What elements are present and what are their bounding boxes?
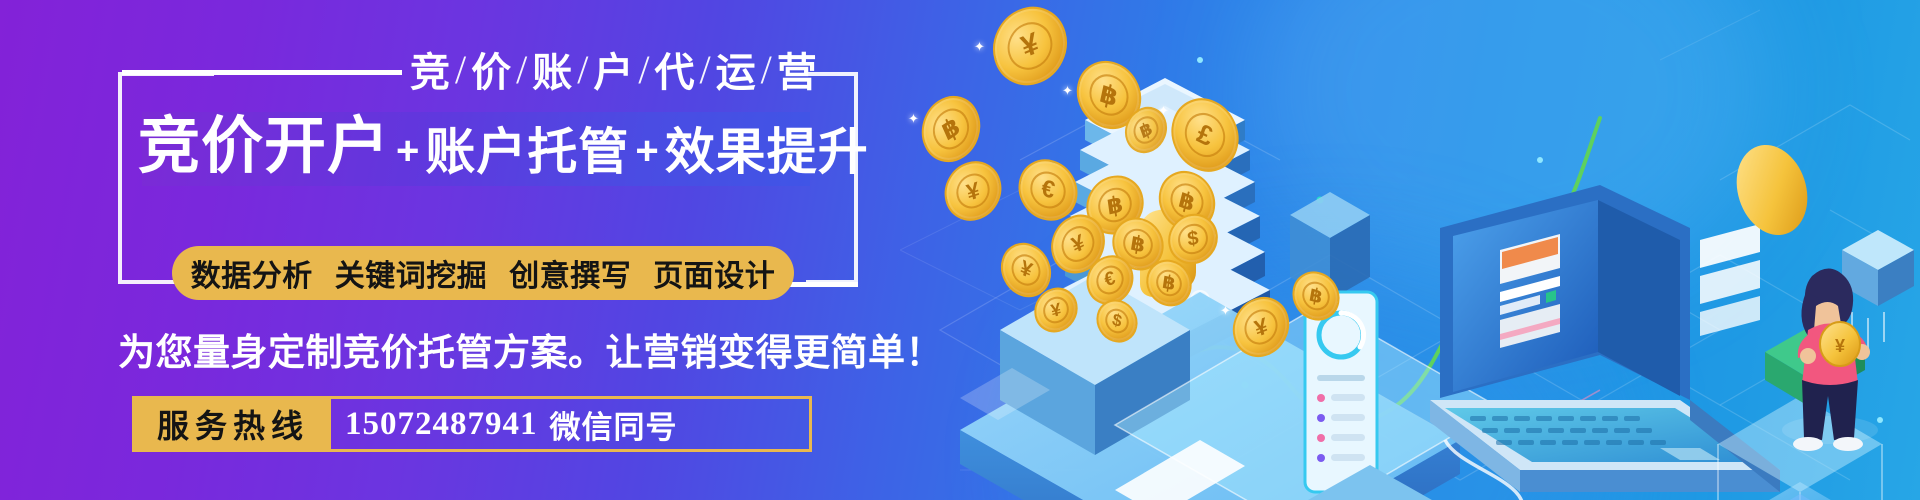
- gold-coin-large: [1725, 136, 1818, 245]
- tagline-word-5: 运: [716, 40, 757, 98]
- headline-plus-1: +: [396, 131, 419, 171]
- tagline-separator: /: [516, 46, 528, 93]
- headline: 竞价开户 + 账户托管 + 效果提升: [138, 104, 868, 190]
- headline-plus-2: +: [635, 131, 658, 171]
- svg-text:¥: ¥: [1835, 336, 1845, 356]
- service-item-0: 数据分析: [191, 251, 313, 295]
- hotline-bar: 服务热线 15072487941 微信同号: [132, 396, 812, 452]
- tagline: 竞 / 价 / 账 / 户 / 代 / 运 / 营: [410, 40, 880, 98]
- sparkle-icon: ✦: [908, 112, 919, 125]
- headline-part-3: 效果提升: [665, 127, 869, 177]
- hotline-label: 服务热线: [135, 399, 331, 449]
- tagline-separator: /: [700, 46, 712, 93]
- sparkle-icon: ✦: [974, 40, 985, 53]
- headline-part-1: 竞价开户: [138, 116, 390, 178]
- promo-banner: 竞 / 价 / 账 / 户 / 代 / 运 / 营 竞价开户 + 账户托管 + …: [0, 0, 1920, 500]
- sparkle-icon: ✦: [1220, 304, 1231, 317]
- service-item-2: 创意撰写: [509, 251, 631, 295]
- tagline-separator: /: [761, 46, 773, 93]
- tagline-separator: /: [638, 46, 650, 93]
- tagline-word-2: 账: [532, 40, 573, 98]
- hotline-number[interactable]: 15072487941: [345, 406, 538, 443]
- hotline-value: 15072487941 微信同号: [331, 399, 809, 449]
- tagline-word-1: 价: [471, 40, 512, 98]
- hero-illustration: ¥ ¥ ✦ ฿ ✦ ฿ ✦ £ ✦ ¥ € ฿ ฿ ¥ ฿ $ ¥ € ฿ ¥ …: [900, 0, 1920, 500]
- banner-text-column: 竞 / 价 / 账 / 户 / 代 / 运 / 营 竞价开户 + 账户托管 + …: [0, 0, 900, 500]
- service-item-3: 页面设计: [653, 251, 775, 295]
- tagline-separator: /: [577, 46, 589, 93]
- sparkle-icon: ✦: [1062, 84, 1073, 97]
- tagline-word-6: 营: [777, 40, 818, 98]
- tagline-word-0: 竞: [410, 40, 451, 98]
- tagline-word-3: 户: [593, 40, 634, 98]
- headline-part-2: 账户托管: [425, 127, 629, 177]
- tagline-separator: /: [455, 46, 467, 93]
- service-item-1: 关键词挖掘: [335, 251, 488, 295]
- subtitle: 为您量身定制竞价托管方案。让营销变得更简单！: [118, 325, 898, 373]
- hotline-wechat-note: 微信同号: [550, 402, 678, 447]
- tagline-word-4: 代: [655, 40, 696, 98]
- services-pill: 数据分析 关键词挖掘 创意撰写 页面设计: [172, 246, 794, 300]
- decorative-rule-top: [122, 70, 402, 75]
